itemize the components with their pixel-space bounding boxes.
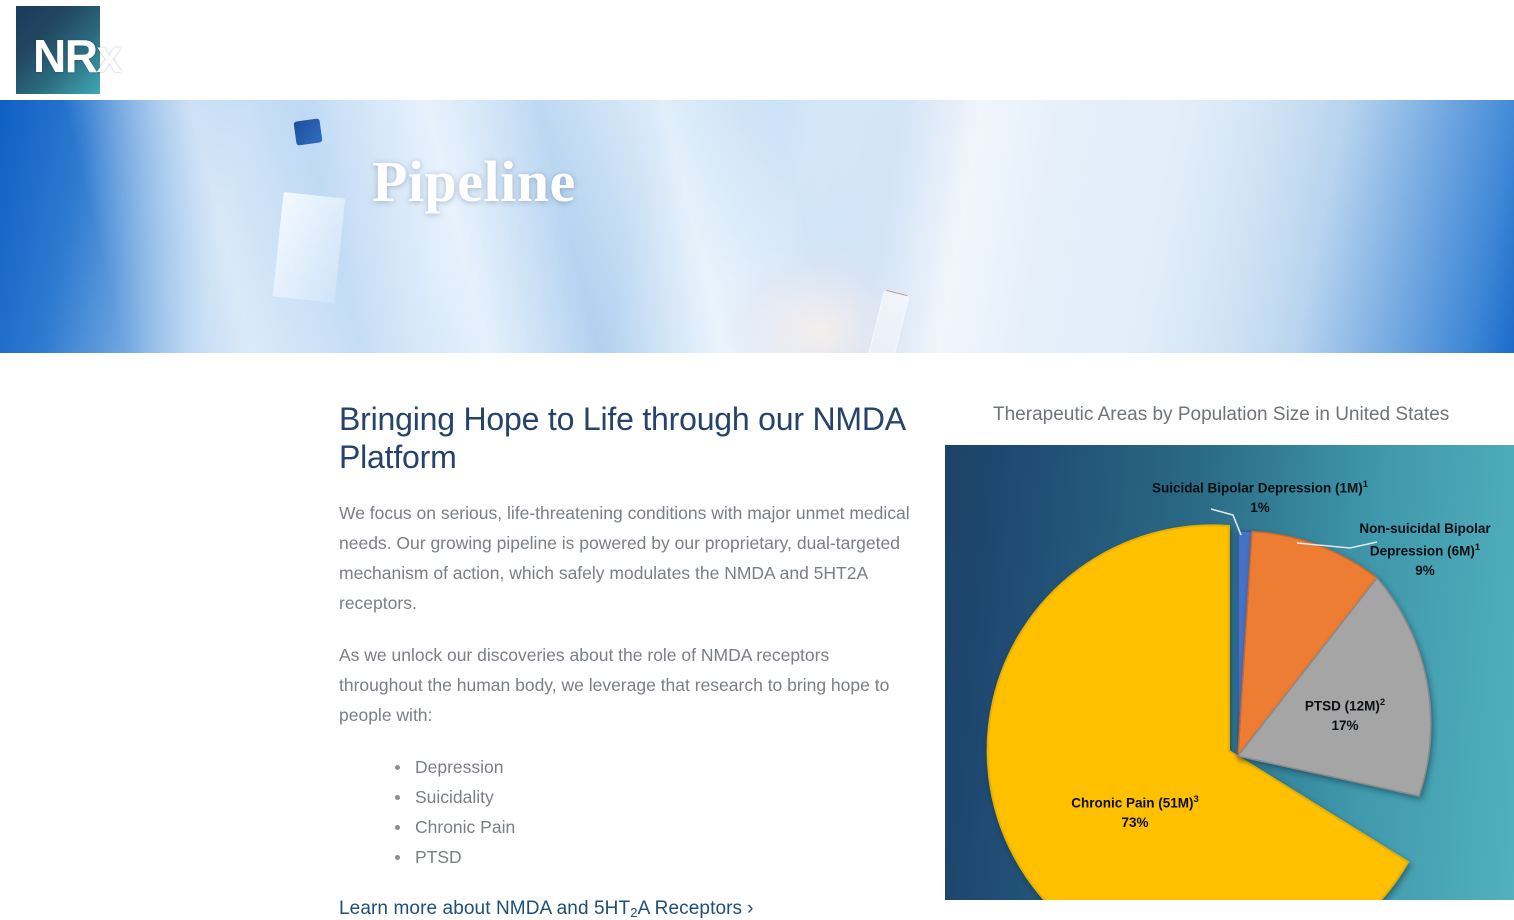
footnote-marker: 1 <box>1363 479 1368 490</box>
therapeutic-areas-chart: Therapeutic Areas by Population Size in … <box>945 353 1514 900</box>
logo-wordmark: NRx <box>33 30 143 82</box>
learn-more-suffix: A Receptors <box>638 898 743 919</box>
lab-coat-pocket <box>273 192 346 303</box>
hero-banner: Pipeline <box>0 100 1514 353</box>
pie-label-chronic-text: Chronic Pain (51M) <box>1071 796 1193 811</box>
intro-column: Bringing Hope to Life through our NMDA P… <box>339 400 919 920</box>
site-header: NRx <box>0 0 1514 100</box>
lab-coat-badge-icon <box>293 118 322 145</box>
pie-label-ptsd-text: PTSD (12M) <box>1305 699 1380 714</box>
section-heading: Bringing Hope to Life through our NMDA P… <box>339 400 919 476</box>
pie-label-nonsuicidal-bipolar: Non-suicidal Bipolar Depression (6M)1 9% <box>1325 519 1514 580</box>
pie-label-ptsd: PTSD (12M)2 17% <box>1245 693 1445 735</box>
test-tube-icon <box>844 289 909 353</box>
pie-label-ptsd-pct: 17% <box>1245 716 1445 735</box>
list-item: Depression <box>395 752 919 782</box>
pie-label-nonsuicidal-pct: 9% <box>1325 561 1514 580</box>
pie-label-suicidal-bipolar: Suicidal Bipolar Depression (1M)1 1% <box>1045 475 1475 517</box>
learn-more-prefix: Learn more about NMDA and 5HT <box>339 898 630 919</box>
chart-title: Therapeutic Areas by Population Size in … <box>993 403 1513 427</box>
pie-label-chronic-pct: 73% <box>985 813 1285 832</box>
hero-background-photo <box>0 100 1514 353</box>
chevron-right-icon: › <box>747 898 753 919</box>
list-item: Suicidality <box>395 782 919 812</box>
footnote-marker: 3 <box>1193 794 1198 805</box>
pie-label-suicidal-text: Suicidal Bipolar Depression (1M) <box>1152 481 1363 496</box>
pie-chart-canvas: Suicidal Bipolar Depression (1M)1 1% Non… <box>945 445 1514 900</box>
learn-more-link[interactable]: Learn more about NMDA and 5HT2A Receptor… <box>339 898 754 920</box>
conditions-list: Depression Suicidality Chronic Pain PTSD <box>395 752 919 872</box>
primary-nav[interactable] <box>964 36 1484 66</box>
pie-label-chronic-pain: Chronic Pain (51M)3 73% <box>985 790 1285 832</box>
footnote-marker: 2 <box>1380 697 1385 708</box>
main-content: Bringing Hope to Life through our NMDA P… <box>0 353 1514 900</box>
pie-label-nonsuicidal-line1: Non-suicidal Bipolar <box>1325 519 1514 538</box>
intro-paragraph-1: We focus on serious, life-threatening co… <box>339 498 915 618</box>
nrx-logo[interactable]: NRx <box>16 6 100 94</box>
list-item: PTSD <box>395 842 919 872</box>
page-title: Pipeline <box>372 148 576 215</box>
pie-label-suicidal-pct: 1% <box>1045 498 1475 517</box>
footnote-marker: 1 <box>1475 542 1480 553</box>
learn-more-subscript: 2 <box>630 905 637 920</box>
list-item: Chronic Pain <box>395 812 919 842</box>
pie-label-nonsuicidal-line2: Depression (6M) <box>1370 544 1475 559</box>
intro-paragraph-2: As we unlock our discoveries about the r… <box>339 640 915 730</box>
